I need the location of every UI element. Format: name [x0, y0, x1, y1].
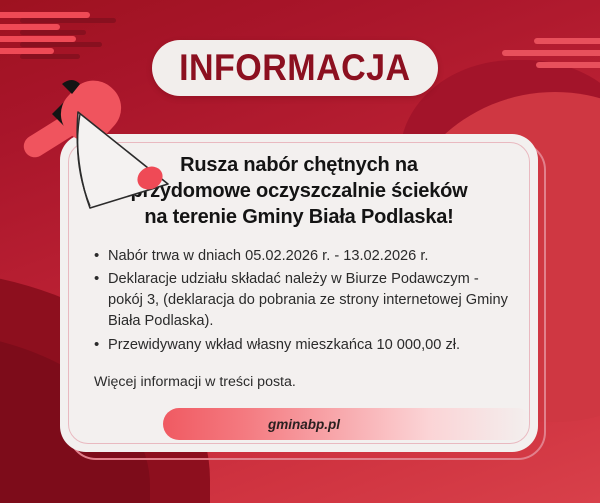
decorative-line	[0, 48, 54, 54]
badge-label: INFORMACJA	[179, 47, 411, 89]
list-item: Przewidywany wkład własny mieszkańca 10 …	[108, 335, 516, 356]
decorative-lines-left	[0, 12, 90, 60]
decorative-line	[0, 36, 76, 42]
megaphone-icon	[22, 78, 207, 238]
more-info-text: Więcej informacji w treści posta.	[82, 374, 516, 390]
list-item: Nabór trwa w dniach 05.02.2026 r. - 13.0…	[108, 246, 516, 267]
decorative-line	[0, 24, 60, 30]
information-poster: INFORMACJA Rusza nabór chętnych na przyd…	[0, 0, 600, 503]
decorative-line	[502, 50, 600, 56]
decorative-line	[534, 38, 600, 44]
list-item: Deklaracje udziału składać należy w Biur…	[108, 269, 516, 332]
decorative-line	[0, 12, 90, 18]
website-label: gminabp.pl	[268, 417, 340, 432]
details-list: Nabór trwa w dniach 05.02.2026 r. - 13.0…	[82, 246, 516, 356]
website-pill: gminabp.pl	[163, 408, 533, 440]
